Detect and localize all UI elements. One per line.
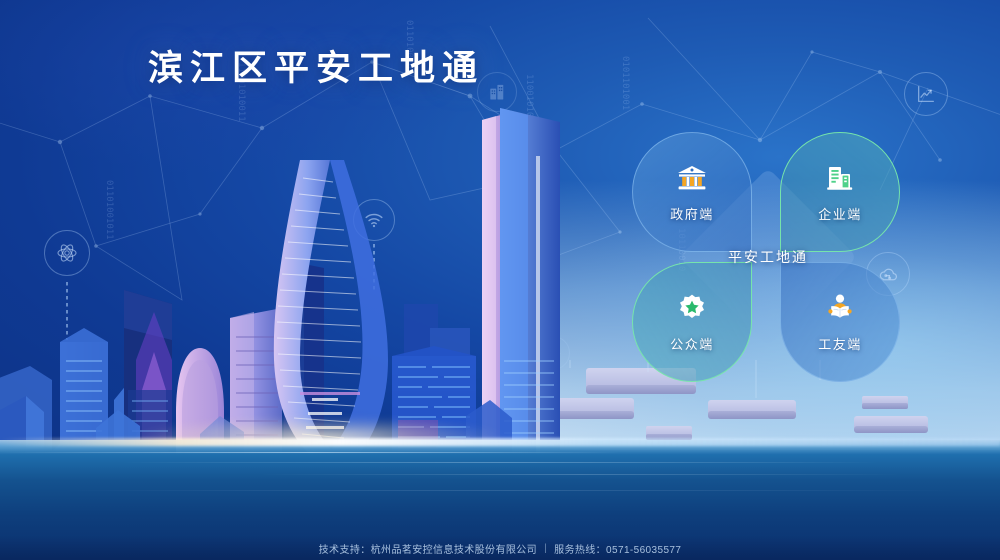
- office-building-icon: [823, 161, 857, 195]
- binary-column: 01101001011: [104, 180, 114, 240]
- water-streak: [0, 452, 620, 453]
- dotted-connector: [373, 244, 375, 290]
- city-skyline-illustration: [0, 60, 560, 480]
- menu-item-enterprise[interactable]: 企业端: [780, 132, 900, 252]
- shoreline-glow: [0, 438, 1000, 446]
- binary-column: 110010100: [524, 74, 534, 123]
- menu-item-government[interactable]: 政府端: [632, 132, 752, 252]
- binary-column: 0101101001: [620, 56, 630, 110]
- water-streak: [120, 462, 880, 463]
- menu-item-label: 公众端: [670, 334, 714, 353]
- atom-icon: [44, 230, 90, 276]
- menu-item-worker[interactable]: 工友端: [780, 262, 900, 382]
- footer-hotline-text: 服务热线：0571-56035577: [554, 541, 681, 556]
- footer-bar: 技术支持：杭州品茗安控信息技术股份有限公司 | 服务热线：0571-560355…: [0, 536, 1000, 560]
- footer-separator: |: [537, 543, 554, 554]
- chart-icon: [904, 72, 948, 116]
- center-label: 平安工地通: [728, 247, 808, 267]
- dotted-connector: [66, 282, 68, 340]
- menu-item-public[interactable]: 公众端: [632, 262, 752, 382]
- bank-building-icon: [675, 161, 709, 195]
- menu-item-label: 工友端: [818, 334, 862, 353]
- water-streak: [60, 490, 960, 491]
- menu-item-label: 企业端: [818, 204, 862, 223]
- water-streak: [260, 474, 900, 475]
- footer-support-text: 技术支持：杭州品茗安控信息技术股份有限公司: [319, 541, 537, 556]
- entry-menu: 政府端 企业端: [628, 128, 908, 386]
- app-root: 01101001011 11001010011 0110100101 11001…: [0, 0, 1000, 560]
- page-title: 滨江区平安工地通: [148, 40, 484, 91]
- person-reading-icon: [823, 291, 857, 325]
- wifi-icon: [353, 199, 395, 241]
- menu-item-label: 政府端: [670, 204, 714, 223]
- star-badge-icon: [675, 291, 709, 325]
- gear-icon: [536, 336, 570, 370]
